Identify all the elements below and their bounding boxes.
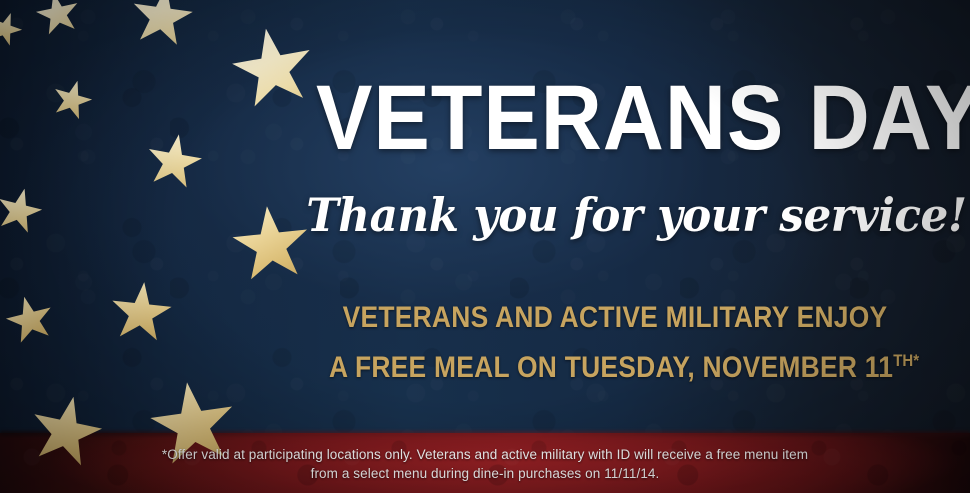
offer-line-two: A FREE MEAL ON TUESDAY, NOVEMBER 11TH* [329, 339, 901, 389]
offer-line-one: VETERANS AND ACTIVE MILITARY ENJOY [329, 296, 901, 339]
veterans-day-banner: VETERANS DAY Thank you for your service!… [0, 0, 970, 493]
thank-you-subtitle: Thank you for your service! [306, 189, 924, 241]
offer-date-superscript: TH* [893, 351, 919, 370]
offer-line-two-text: A FREE MEAL ON TUESDAY, NOVEMBER 11 [329, 351, 893, 384]
disclaimer-fine-print: *Offer valid at participating locations … [150, 445, 820, 483]
banner-text-content: VETERANS DAY Thank you for your service!… [0, 0, 970, 493]
page-title: VETERANS DAY [316, 72, 914, 164]
offer-details: VETERANS AND ACTIVE MILITARY ENJOY A FRE… [329, 296, 901, 389]
